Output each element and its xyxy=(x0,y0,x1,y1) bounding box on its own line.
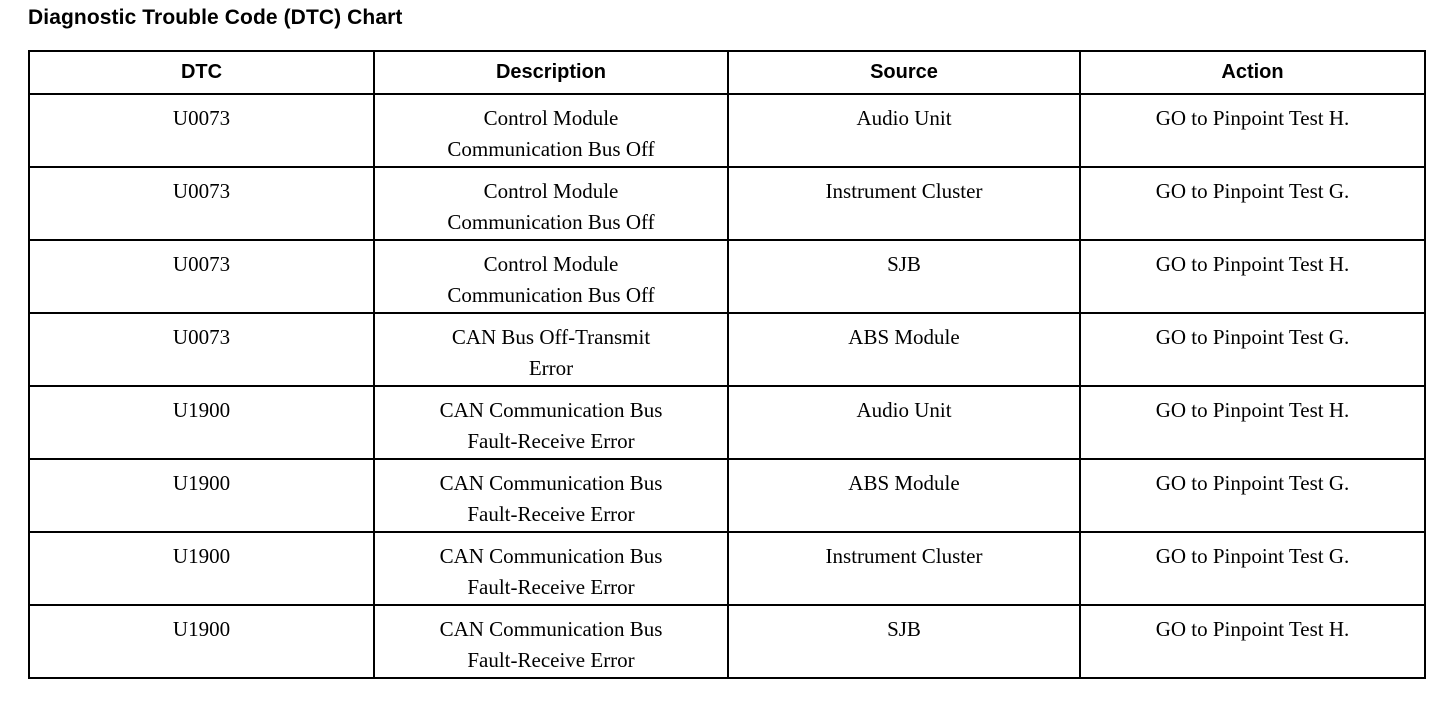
cell-action-text: GO to Pinpoint Test G. xyxy=(1081,168,1424,207)
column-header-source: Source xyxy=(728,51,1080,94)
cell-dtc: U0073 xyxy=(29,313,374,386)
cell-action: GO to Pinpoint Test H. xyxy=(1080,240,1425,313)
cell-source: ABS Module xyxy=(728,313,1080,386)
table-row: U0073 Control Module Communication Bus O… xyxy=(29,94,1425,167)
dtc-chart-table-container: DTC Description Source Action U0073 Cont… xyxy=(28,50,1424,679)
cell-dtc: U1900 xyxy=(29,386,374,459)
cell-description: CAN Communication Bus Fault-Receive Erro… xyxy=(374,532,728,605)
cell-description-text: Control Module Communication Bus Off xyxy=(375,241,727,311)
cell-dtc-text: U1900 xyxy=(30,460,373,499)
cell-action-text: GO to Pinpoint Test H. xyxy=(1081,387,1424,426)
table-row: U1900 CAN Communication Bus Fault-Receiv… xyxy=(29,532,1425,605)
cell-source-text: ABS Module xyxy=(729,314,1079,353)
cell-dtc: U1900 xyxy=(29,605,374,678)
cell-dtc-text: U1900 xyxy=(30,533,373,572)
cell-description: CAN Communication Bus Fault-Receive Erro… xyxy=(374,605,728,678)
cell-action-text: GO to Pinpoint Test G. xyxy=(1081,314,1424,353)
column-header-description: Description xyxy=(374,51,728,94)
cell-dtc: U0073 xyxy=(29,94,374,167)
cell-description: CAN Communication Bus Fault-Receive Erro… xyxy=(374,386,728,459)
cell-description: Control Module Communication Bus Off xyxy=(374,94,728,167)
dtc-chart-table: DTC Description Source Action U0073 Cont… xyxy=(28,50,1426,679)
cell-action: GO to Pinpoint Test G. xyxy=(1080,313,1425,386)
cell-dtc-text: U0073 xyxy=(30,314,373,353)
cell-action: GO to Pinpoint Test G. xyxy=(1080,167,1425,240)
page-title: Diagnostic Trouble Code (DTC) Chart xyxy=(28,4,403,32)
cell-dtc: U0073 xyxy=(29,240,374,313)
cell-dtc: U0073 xyxy=(29,167,374,240)
cell-action: GO to Pinpoint Test G. xyxy=(1080,459,1425,532)
cell-description: Control Module Communication Bus Off xyxy=(374,167,728,240)
cell-source-text: Audio Unit xyxy=(729,95,1079,134)
cell-action-text: GO to Pinpoint Test G. xyxy=(1081,460,1424,499)
cell-dtc-text: U0073 xyxy=(30,241,373,280)
cell-dtc-text: U0073 xyxy=(30,95,373,134)
cell-action-text: GO to Pinpoint Test G. xyxy=(1081,533,1424,572)
cell-description-text: CAN Communication Bus Fault-Receive Erro… xyxy=(375,533,727,603)
cell-dtc: U1900 xyxy=(29,459,374,532)
cell-source-text: SJB xyxy=(729,606,1079,645)
cell-source-text: Instrument Cluster xyxy=(729,168,1079,207)
table-header-row: DTC Description Source Action xyxy=(29,51,1425,94)
cell-source: Instrument Cluster xyxy=(728,167,1080,240)
table-header: DTC Description Source Action xyxy=(29,51,1425,94)
cell-description: CAN Communication Bus Fault-Receive Erro… xyxy=(374,459,728,532)
table-row: U1900 CAN Communication Bus Fault-Receiv… xyxy=(29,605,1425,678)
cell-description-text: CAN Communication Bus Fault-Receive Erro… xyxy=(375,387,727,457)
column-header-action: Action xyxy=(1080,51,1425,94)
cell-source: Instrument Cluster xyxy=(728,532,1080,605)
cell-action: GO to Pinpoint Test H. xyxy=(1080,605,1425,678)
table-row: U0073 Control Module Communication Bus O… xyxy=(29,240,1425,313)
page-root: Diagnostic Trouble Code (DTC) Chart DTC … xyxy=(0,0,1456,712)
cell-dtc-text: U1900 xyxy=(30,387,373,426)
cell-action: GO to Pinpoint Test H. xyxy=(1080,94,1425,167)
cell-source: Audio Unit xyxy=(728,94,1080,167)
cell-dtc: U1900 xyxy=(29,532,374,605)
cell-source: SJB xyxy=(728,240,1080,313)
cell-action-text: GO to Pinpoint Test H. xyxy=(1081,95,1424,134)
table-body: U0073 Control Module Communication Bus O… xyxy=(29,94,1425,678)
table-row: U0073 Control Module Communication Bus O… xyxy=(29,167,1425,240)
cell-source-text: ABS Module xyxy=(729,460,1079,499)
cell-dtc-text: U0073 xyxy=(30,168,373,207)
cell-source-text: Audio Unit xyxy=(729,387,1079,426)
cell-description: Control Module Communication Bus Off xyxy=(374,240,728,313)
cell-action-text: GO to Pinpoint Test H. xyxy=(1081,241,1424,280)
table-row: U0073 CAN Bus Off-Transmit Error ABS Mod… xyxy=(29,313,1425,386)
cell-source-text: Instrument Cluster xyxy=(729,533,1079,572)
cell-source: SJB xyxy=(728,605,1080,678)
cell-description-text: CAN Communication Bus Fault-Receive Erro… xyxy=(375,460,727,530)
cell-action: GO to Pinpoint Test G. xyxy=(1080,532,1425,605)
table-row: U1900 CAN Communication Bus Fault-Receiv… xyxy=(29,386,1425,459)
cell-source: Audio Unit xyxy=(728,386,1080,459)
cell-description-text: CAN Bus Off-Transmit Error xyxy=(375,314,727,384)
cell-description-text: Control Module Communication Bus Off xyxy=(375,168,727,238)
table-row: U1900 CAN Communication Bus Fault-Receiv… xyxy=(29,459,1425,532)
cell-description-text: Control Module Communication Bus Off xyxy=(375,95,727,165)
cell-dtc-text: U1900 xyxy=(30,606,373,645)
column-header-dtc: DTC xyxy=(29,51,374,94)
cell-description: CAN Bus Off-Transmit Error xyxy=(374,313,728,386)
cell-action-text: GO to Pinpoint Test H. xyxy=(1081,606,1424,645)
cell-source-text: SJB xyxy=(729,241,1079,280)
cell-description-text: CAN Communication Bus Fault-Receive Erro… xyxy=(375,606,727,676)
cell-action: GO to Pinpoint Test H. xyxy=(1080,386,1425,459)
cell-source: ABS Module xyxy=(728,459,1080,532)
